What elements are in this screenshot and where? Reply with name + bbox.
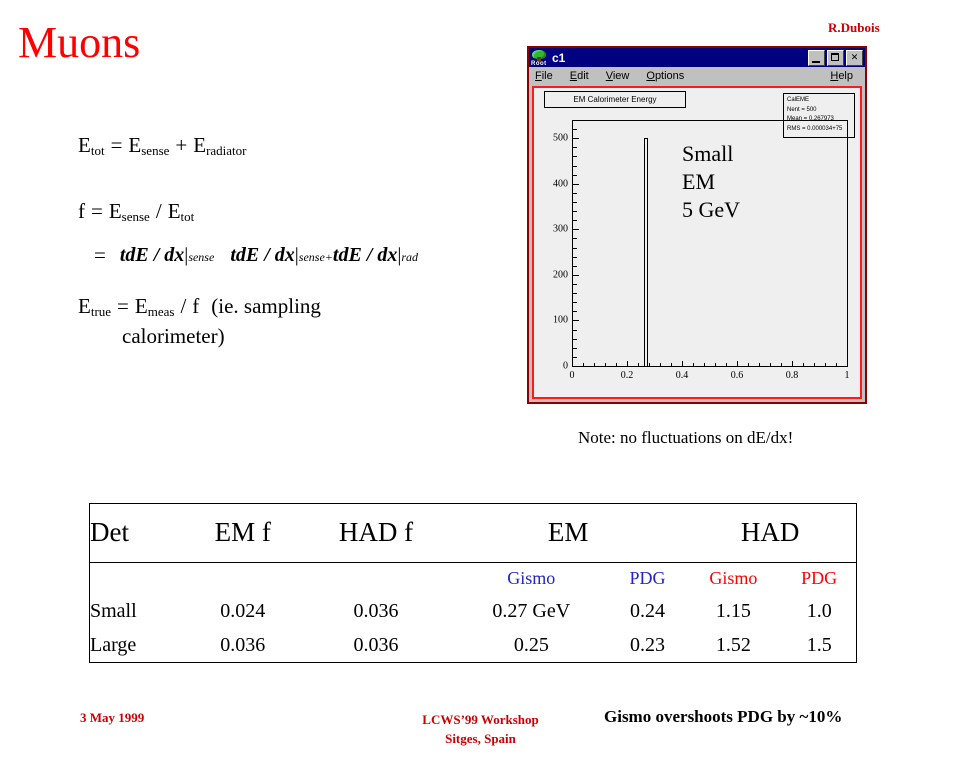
row0-had-f: 0.036 — [300, 595, 452, 629]
x-tick-minor — [616, 363, 617, 366]
y-tick-major — [573, 275, 579, 276]
y-tick-major — [573, 320, 579, 321]
subheader-em-pdg: PDG — [611, 562, 685, 594]
etot-t2: E — [193, 133, 206, 157]
footer-venue-line2: Sitges, Spain — [398, 729, 563, 748]
y-tick-minor — [573, 266, 577, 267]
y-tick-minor — [573, 302, 577, 303]
page-title: Muons — [18, 18, 140, 68]
x-tick-minor — [781, 363, 782, 366]
f-slash: / — [156, 199, 162, 223]
results-table: Det EM f HAD f EM HAD Gismo PDG Gismo PD… — [89, 503, 857, 663]
footer-venue-line1: LCWS’99 Workshop — [398, 710, 563, 729]
x-tick-label: 0.6 — [731, 370, 744, 381]
plot-annotation: Small EM 5 GeV — [682, 140, 740, 224]
subheader-em-gismo: Gismo — [452, 562, 611, 594]
x-tick-minor — [693, 363, 694, 366]
menu-help[interactable]: Help — [830, 70, 853, 82]
footer-venue: LCWS’99 Workshop Sitges, Spain — [398, 710, 563, 748]
table-row: Large 0.036 0.036 0.25 0.23 1.52 1.5 — [90, 628, 856, 662]
x-tick-major — [847, 361, 848, 366]
formula-block: Etot=Esense+Eradiator f=Esense/Etot = td… — [78, 133, 498, 348]
y-tick-minor — [573, 330, 577, 331]
den-plus: + — [325, 250, 333, 264]
row0-em-f: 0.024 — [185, 595, 300, 629]
x-tick-major — [682, 361, 683, 366]
header-em-f: EM f — [185, 504, 300, 562]
etot-plus: + — [175, 133, 187, 157]
fraction-eq: = — [94, 243, 106, 268]
menu-view-accel: V — [606, 70, 613, 82]
y-tick-minor — [573, 248, 577, 249]
table-subheader-row: Gismo PDG Gismo PDG — [90, 562, 856, 594]
header-em: EM — [452, 504, 684, 562]
menu-options-accel: O — [646, 70, 655, 82]
root-logo-text: Root — [531, 61, 548, 67]
row1-had-pdg: 1.5 — [782, 628, 856, 662]
row1-em-pdg: 0.23 — [611, 628, 685, 662]
footer-note: Gismo overshoots PDG by ~10% — [604, 707, 842, 727]
y-tick-minor — [573, 193, 577, 194]
den-b-expr: tdE / dx — [333, 244, 397, 266]
y-tick-major — [573, 229, 579, 230]
y-tick-label: 0 — [563, 361, 568, 372]
etrue-paren: (ie. sampling — [211, 294, 321, 318]
annotation-line-3: 5 GeV — [682, 196, 740, 224]
y-tick-minor — [573, 156, 577, 157]
x-tick-label: 0 — [570, 370, 575, 381]
menu-file-label: ile — [542, 70, 553, 82]
x-tick-minor — [748, 363, 749, 366]
y-tick-minor — [573, 339, 577, 340]
row0-had-pdg: 1.0 — [782, 595, 856, 629]
x-tick-label: 0.8 — [786, 370, 799, 381]
x-tick-major — [627, 361, 628, 366]
y-tick-label: 300 — [553, 224, 568, 235]
y-tick-label: 200 — [553, 269, 568, 280]
y-tick-minor — [573, 220, 577, 221]
maximize-button[interactable] — [827, 50, 844, 66]
x-tick-minor — [594, 363, 595, 366]
stat-name: CalEME — [787, 96, 851, 106]
root-logo-icon: Root — [531, 50, 548, 66]
header-had: HAD — [684, 504, 856, 562]
window-titlebar[interactable]: Root c1 ✕ — [529, 48, 865, 67]
den-a-expr: tdE / dx — [230, 244, 294, 266]
f-t2: E — [168, 199, 181, 223]
y-tick-major — [573, 184, 579, 185]
annotation-line-2: EM — [682, 168, 740, 196]
close-icon[interactable]: ✕ — [846, 50, 863, 66]
x-tick-label: 0.4 — [676, 370, 689, 381]
y-tick-label: 100 — [553, 315, 568, 326]
x-tick-label: 0.2 — [621, 370, 634, 381]
y-tick-minor — [573, 175, 577, 176]
x-tick-minor — [671, 363, 672, 366]
fraction-numerator: tdE / dx|sense — [114, 244, 220, 268]
row0-had-gismo: 1.15 — [684, 595, 782, 629]
etot-lhs: E — [78, 133, 91, 157]
etrue-eq: = — [117, 294, 129, 318]
menubar[interactable]: File Edit View Options Help — [529, 67, 865, 84]
formula-f: f=Esense/Etot — [78, 199, 498, 229]
menu-help-label: elp — [838, 70, 853, 82]
y-tick-minor — [573, 284, 577, 285]
etrue-t1: E — [135, 294, 148, 318]
footer-date: 3 May 1999 — [80, 710, 144, 726]
x-tick-minor — [836, 363, 837, 366]
table-row: Small 0.024 0.036 0.27 GeV 0.24 1.15 1.0 — [90, 595, 856, 629]
annotation-line-1: Small — [682, 140, 740, 168]
etot-lhs-sub: tot — [91, 143, 105, 158]
window-title: c1 — [552, 51, 806, 65]
num-sub: sense — [188, 250, 214, 264]
etrue-t1-sub: meas — [148, 304, 175, 319]
row1-had-gismo: 1.52 — [684, 628, 782, 662]
f-t1-sub: sense — [122, 209, 150, 224]
y-tick-label: 500 — [553, 133, 568, 144]
formula-etot: Etot=Esense+Eradiator — [78, 133, 498, 163]
num-expr: tdE / dx — [120, 244, 184, 266]
y-tick-minor — [573, 311, 577, 312]
y-tick-label: 400 — [553, 178, 568, 189]
row0-det: Small — [90, 595, 185, 629]
x-tick-minor — [825, 363, 826, 366]
y-tick-minor — [573, 147, 577, 148]
subheader-blank-1 — [90, 562, 185, 594]
f-lhs: f — [78, 199, 85, 223]
y-tick-minor — [573, 293, 577, 294]
y-tick-major — [573, 138, 579, 139]
results-table-inner: Det EM f HAD f EM HAD Gismo PDG Gismo PD… — [90, 504, 856, 662]
x-tick-major — [792, 361, 793, 366]
etrue-slash: / — [180, 294, 186, 318]
root-canvas-window[interactable]: Root c1 ✕ File Edit View Options Help EM… — [527, 46, 867, 404]
row1-em-f: 0.036 — [185, 628, 300, 662]
x-tick-major — [572, 361, 573, 366]
x-tick-major — [737, 361, 738, 366]
x-tick-minor — [638, 363, 639, 366]
row1-det: Large — [90, 628, 185, 662]
x-tick-label: 1 — [845, 370, 850, 381]
menu-edit-accel: E — [570, 70, 577, 82]
y-tick-major — [573, 366, 579, 367]
row1-em-gismo: 0.25 — [452, 628, 611, 662]
minimize-button[interactable] — [808, 50, 825, 66]
x-tick-minor — [803, 363, 804, 366]
top-axis-line — [572, 120, 848, 121]
y-tick-minor — [573, 357, 577, 358]
fraction-denominator: tdE / dx|sense+tdE / dx|rad — [224, 242, 424, 266]
note-text: Note: no fluctuations on dE/dx! — [578, 428, 793, 448]
den-a-sub: sense — [299, 250, 325, 264]
formula-etrue: Etrue=Emeas/f(ie. sampling calorimeter) — [78, 294, 498, 348]
etot-t1: E — [128, 133, 141, 157]
author-label: R.Dubois — [828, 20, 880, 36]
y-tick-minor — [573, 166, 577, 167]
formula-fraction: = tdE / dx|sense tdE / dx|sense+tdE / dx… — [94, 243, 498, 268]
etot-t1-sub: sense — [141, 143, 169, 158]
table-header-row: Det EM f HAD f EM HAD — [90, 504, 856, 562]
y-tick-minor — [573, 238, 577, 239]
x-tick-minor — [715, 363, 716, 366]
f-t1: E — [109, 199, 122, 223]
etrue-lhs-sub: true — [91, 304, 111, 319]
right-axis-line — [847, 120, 848, 367]
menu-view[interactable]: View — [606, 70, 630, 82]
x-tick-minor — [649, 363, 650, 366]
histogram-title: EM Calorimeter Energy — [544, 91, 686, 108]
plot-canvas[interactable]: EM Calorimeter Energy CalEME Nent = 500 … — [532, 86, 862, 399]
y-tick-minor — [573, 202, 577, 203]
x-axis — [572, 366, 848, 367]
etrue-t2: f — [192, 294, 199, 318]
x-tick-minor — [704, 363, 705, 366]
header-det: Det — [90, 504, 185, 562]
x-tick-minor — [759, 363, 760, 366]
etot-t2-sub: radiator — [206, 143, 246, 158]
subheader-blank-3 — [300, 562, 452, 594]
row1-had-f: 0.036 — [300, 628, 452, 662]
subheader-had-pdg: PDG — [782, 562, 856, 594]
plot-area: 0100200300400500 00.20.40.60.81 Small EM… — [572, 120, 848, 367]
x-tick-minor — [814, 363, 815, 366]
menu-edit-label: dit — [577, 70, 589, 82]
etrue-lhs: E — [78, 294, 91, 318]
histogram-bar — [644, 138, 648, 366]
y-tick-minor — [573, 211, 577, 212]
menu-edit[interactable]: Edit — [570, 70, 589, 82]
y-tick-minor — [573, 348, 577, 349]
menu-file[interactable]: File — [535, 70, 553, 82]
menu-options[interactable]: Options — [646, 70, 684, 82]
x-tick-minor — [605, 363, 606, 366]
etrue-paren2: calorimeter) — [122, 324, 498, 348]
y-tick-minor — [573, 129, 577, 130]
menu-view-label: iew — [613, 70, 630, 82]
menu-file-accel: F — [535, 70, 542, 82]
subheader-blank-2 — [185, 562, 300, 594]
den-b-sub: rad — [401, 250, 418, 264]
x-tick-minor — [770, 363, 771, 366]
x-tick-minor — [726, 363, 727, 366]
header-had-f: HAD f — [300, 504, 452, 562]
y-tick-minor — [573, 257, 577, 258]
f-eq: = — [91, 199, 103, 223]
stat-entries: Nent = 500 — [787, 106, 851, 116]
f-t2-sub: tot — [181, 209, 195, 224]
row0-em-pdg: 0.24 — [611, 595, 685, 629]
row0-em-gismo: 0.27 GeV — [452, 595, 611, 629]
menu-options-label: ptions — [655, 70, 684, 82]
x-tick-minor — [583, 363, 584, 366]
subheader-had-gismo: Gismo — [684, 562, 782, 594]
x-tick-minor — [660, 363, 661, 366]
etot-eq: = — [111, 133, 123, 157]
